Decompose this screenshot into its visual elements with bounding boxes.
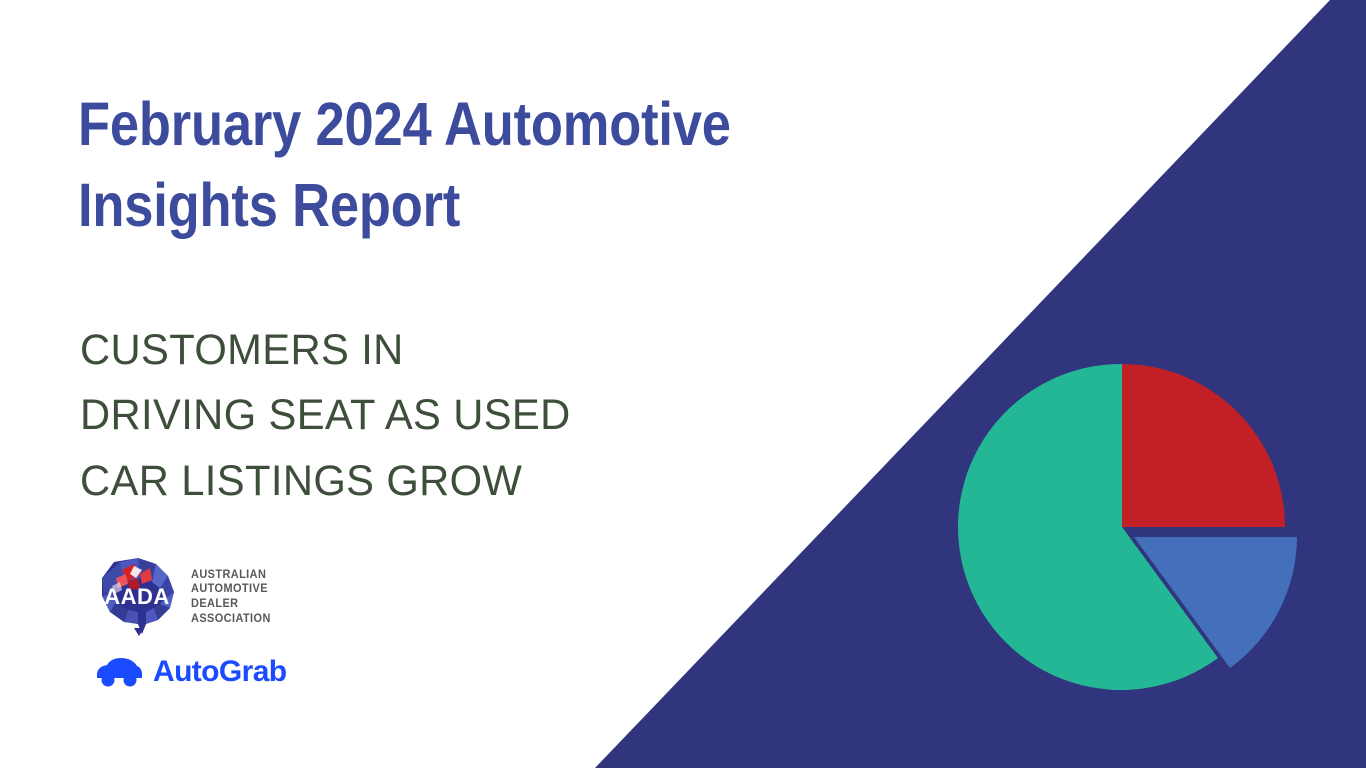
- text-column: February 2024 Automotive Insights Report…: [78, 0, 758, 768]
- autograb-logo: AutoGrab: [94, 655, 287, 689]
- report-subtitle: CUSTOMERS IN DRIVING SEAT AS USED CAR LI…: [80, 318, 759, 514]
- autograb-wordmark: AutoGrab: [153, 657, 287, 687]
- australia-map-icon: AADA: [94, 556, 180, 638]
- page-title: February 2024 Automotive Insights Report: [78, 84, 757, 245]
- car-icon: [94, 655, 144, 689]
- pie-slice-red: [1122, 364, 1285, 527]
- aada-logo: AADA AUSTRALIAN AUTOMOTIVE DEALER ASSOCI…: [94, 556, 275, 638]
- svg-text:AADA: AADA: [104, 584, 170, 609]
- report-cover-slide: February 2024 Automotive Insights Report…: [0, 0, 1366, 768]
- aada-full-name: AUSTRALIAN AUTOMOTIVE DEALER ASSOCIATION: [191, 568, 271, 627]
